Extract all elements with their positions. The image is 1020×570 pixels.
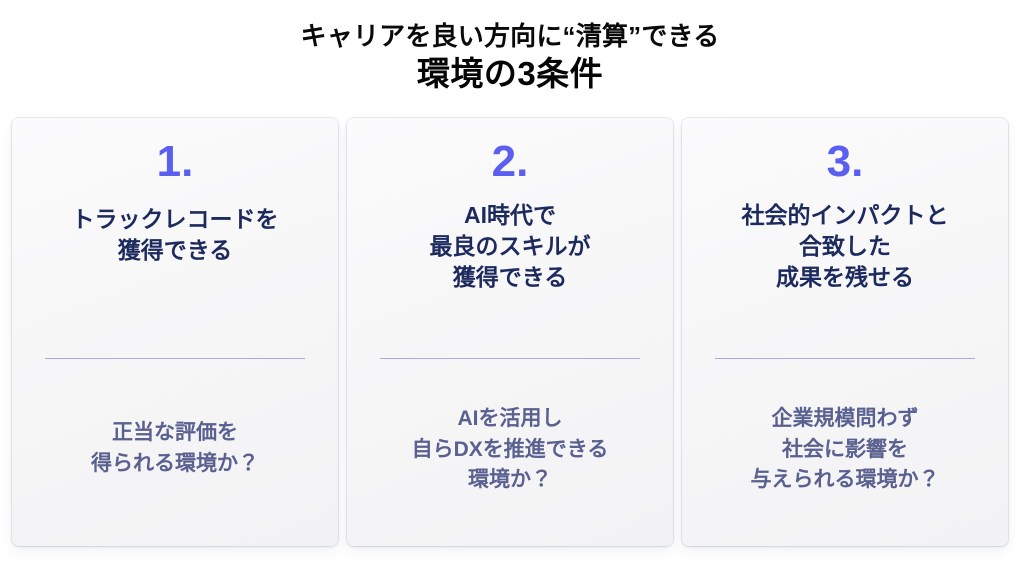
card-heading-2: AI時代で 最良のスキルが 獲得できる: [420, 200, 601, 292]
card-question-2: AIを活用し 自らDXを推進できる 環境か？: [347, 404, 673, 496]
card-number-3: 3.: [827, 140, 864, 184]
card-heading-1: トラックレコードを 獲得できる: [62, 204, 289, 266]
card-divider-2: [380, 358, 640, 359]
card-question-3: 企業規模問わず 社会に影響を 与えられる環境か？: [682, 404, 1008, 496]
slide-canvas: キャリアを良い方向に“清算”できる 環境の3条件 1. トラックレコードを 獲得…: [0, 0, 1020, 570]
card-question-1: 正当な評価を 得られる環境か？: [12, 418, 338, 479]
condition-cards-row: 1. トラックレコードを 獲得できる 正当な評価を 得られる環境か？ 2. AI…: [12, 118, 1008, 546]
condition-card-2[interactable]: 2. AI時代で 最良のスキルが 獲得できる AIを活用し 自らDXを推進できる…: [347, 118, 673, 546]
card-number-1: 1.: [157, 140, 194, 184]
card-divider-1: [45, 358, 305, 359]
card-divider-3: [715, 358, 975, 359]
condition-card-3[interactable]: 3. 社会的インパクトと 合致した 成果を残せる 企業規模問わず 社会に影響を …: [682, 118, 1008, 546]
title-line-2: 環境の3条件: [0, 54, 1020, 95]
card-number-2: 2.: [492, 140, 529, 184]
title-line-1: キャリアを良い方向に“清算”できる: [0, 20, 1020, 52]
card-heading-3: 社会的インパクトと 合致した 成果を残せる: [732, 200, 959, 292]
condition-card-1[interactable]: 1. トラックレコードを 獲得できる 正当な評価を 得られる環境か？: [12, 118, 338, 546]
slide-title: キャリアを良い方向に“清算”できる 環境の3条件: [0, 20, 1020, 95]
